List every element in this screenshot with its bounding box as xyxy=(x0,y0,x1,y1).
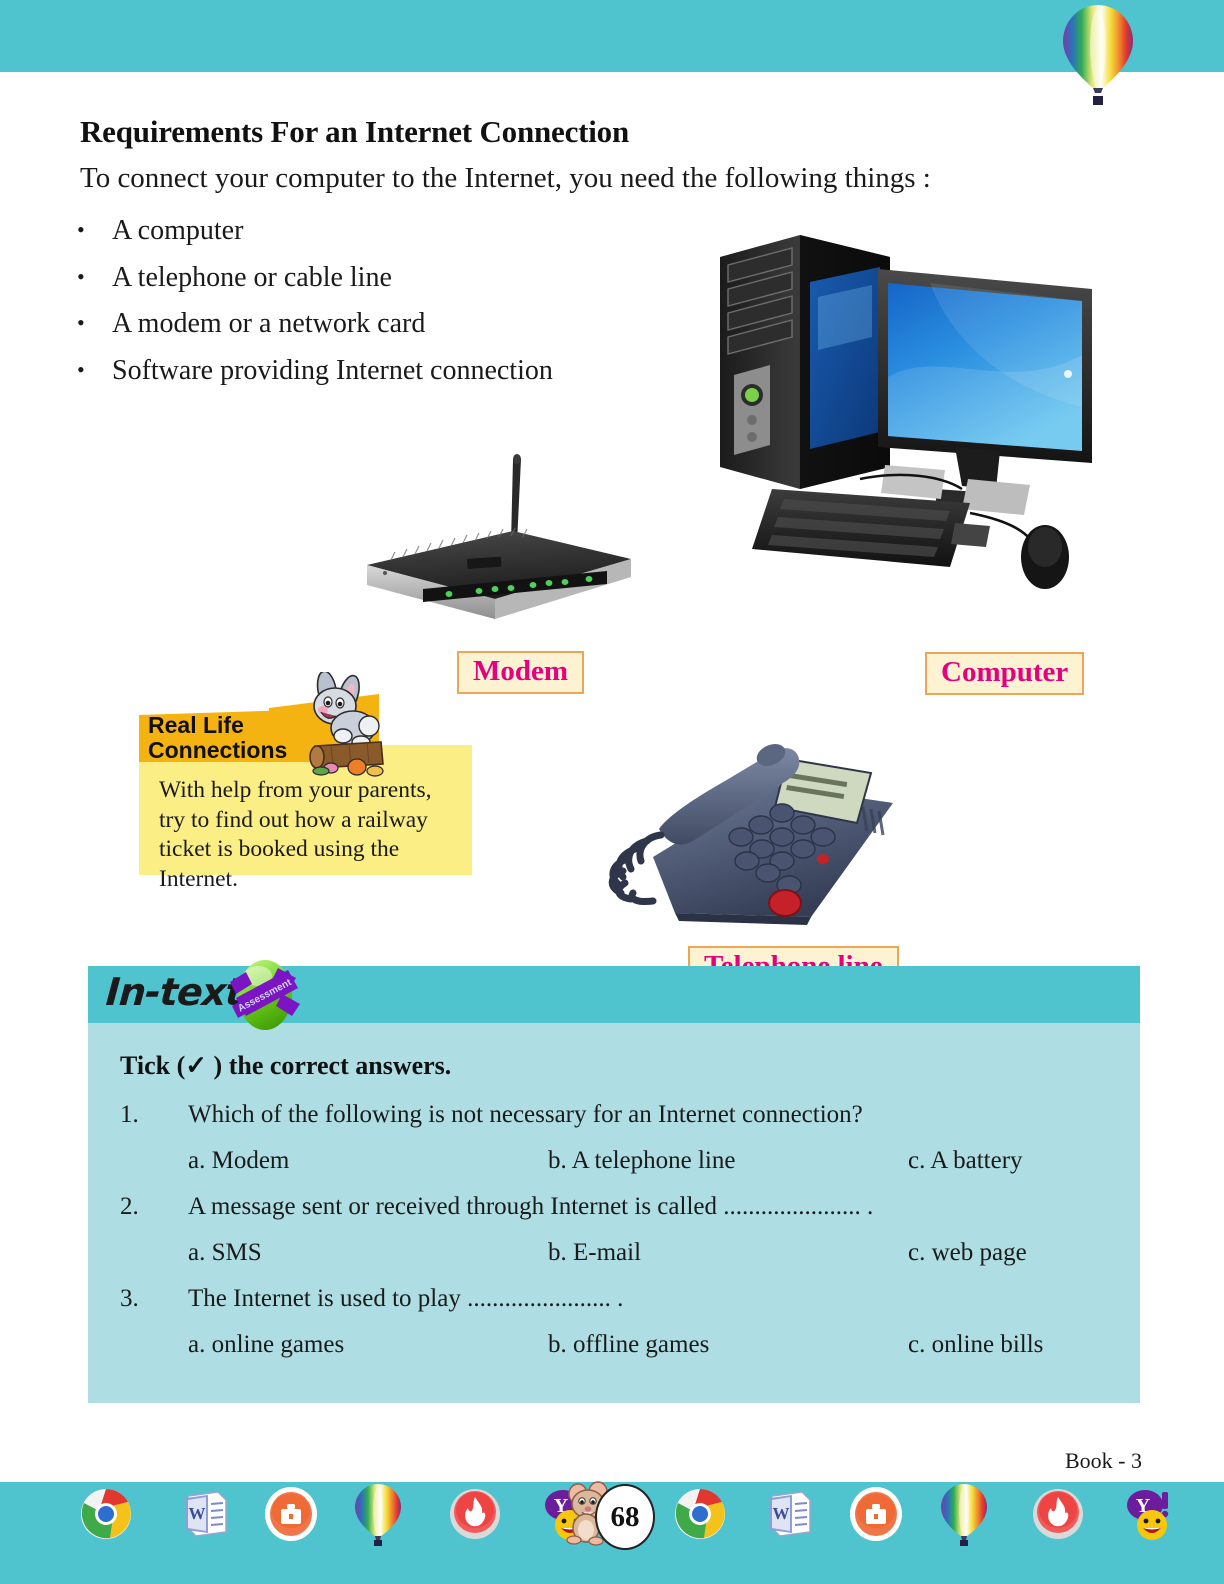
hot-air-balloon-icon xyxy=(1055,2,1141,108)
briefcase-icon[interactable] xyxy=(263,1486,319,1542)
question-number: 3. xyxy=(120,1277,188,1321)
caption-computer: Computer xyxy=(925,652,1084,695)
rlc-title-line1: Real Life xyxy=(148,712,244,738)
word-icon[interactable]: W xyxy=(762,1486,818,1542)
chrome-icon[interactable] xyxy=(78,1486,134,1542)
options-row: a. Modemb. A telephone linec. A battery xyxy=(88,1139,1140,1183)
word-icon[interactable]: W xyxy=(178,1486,234,1542)
quiz-panel: Tick (✓ ) the correct answers. 1.Which o… xyxy=(88,1023,1140,1403)
option-c[interactable]: c. A battery xyxy=(908,1139,1108,1183)
briefcase-icon[interactable] xyxy=(848,1486,904,1542)
hot-air-balloon-icon[interactable] xyxy=(350,1482,406,1546)
option-b[interactable]: b. A telephone line xyxy=(548,1139,908,1183)
chrome-icon[interactable] xyxy=(672,1486,728,1542)
option-b[interactable]: b. E-mail xyxy=(548,1231,908,1275)
question-row: 1.Which of the following is not necessar… xyxy=(88,1093,1140,1137)
svg-text:W: W xyxy=(189,1504,206,1523)
question-row: 3.The Internet is used to play .........… xyxy=(88,1277,1140,1321)
rlc-title-line2: Connections xyxy=(148,737,287,763)
option-a[interactable]: a. online games xyxy=(188,1323,548,1367)
in-text-header: In-text Assessment xyxy=(88,966,1140,1023)
option-c[interactable]: c. web page xyxy=(908,1231,1108,1275)
page-title: Requirements For an Internet Connection xyxy=(80,114,629,150)
option-c[interactable]: c. online bills xyxy=(908,1323,1108,1367)
question-row: 2.A message sent or received through Int… xyxy=(88,1185,1140,1229)
question-text: Which of the following is not necessary … xyxy=(188,1101,863,1128)
question-text: A message sent or received through Inter… xyxy=(188,1193,873,1220)
options-row: a. SMSb. E-mailc. web page xyxy=(88,1231,1140,1275)
list-item: A modem or a network card xyxy=(74,301,553,348)
caption-modem: Modem xyxy=(457,651,584,694)
svg-text:W: W xyxy=(773,1504,790,1523)
requirements-list: A computer A telephone or cable line A m… xyxy=(74,208,553,394)
rlc-title: Real Life Connections xyxy=(148,713,287,763)
question-text: The Internet is used to play ...........… xyxy=(188,1285,623,1312)
computer-image xyxy=(700,227,1100,627)
option-a[interactable]: a. SMS xyxy=(188,1231,548,1275)
rlc-text: With help from your parents, try to find… xyxy=(159,776,459,894)
flame-icon[interactable] xyxy=(447,1486,503,1542)
intro-paragraph: To connect your computer to the Internet… xyxy=(80,162,1150,195)
list-item: Software providing Internet connection xyxy=(74,348,553,395)
real-life-connections-box: Real Life Connections xyxy=(139,672,472,875)
assessment-badge-icon: Assessment xyxy=(222,954,308,1036)
in-text-assessment-section: In-text Assessment Tick (✓ ) xyxy=(88,966,1140,1403)
options-row: a. online gamesb. offline gamesc. online… xyxy=(88,1323,1140,1367)
telephone-image xyxy=(575,707,905,932)
top-teal-band xyxy=(0,0,1224,72)
question-number: 2. xyxy=(120,1185,188,1229)
yahoo-messenger-icon[interactable]: Y xyxy=(1118,1486,1174,1542)
hot-air-balloon-icon[interactable] xyxy=(936,1482,992,1546)
question-number: 1. xyxy=(120,1093,188,1137)
modem-image xyxy=(345,447,645,642)
bunny-icon xyxy=(287,672,397,777)
list-item: A computer xyxy=(74,208,553,255)
list-item: A telephone or cable line xyxy=(74,255,553,302)
option-a[interactable]: a. Modem xyxy=(188,1139,548,1183)
book-label: Book - 3 xyxy=(1065,1448,1142,1474)
flame-icon[interactable] xyxy=(1030,1486,1086,1542)
page-number: 68 xyxy=(595,1484,655,1550)
quiz-instruction: Tick (✓ ) the correct answers. xyxy=(120,1051,1140,1081)
option-b[interactable]: b. offline games xyxy=(548,1323,908,1367)
